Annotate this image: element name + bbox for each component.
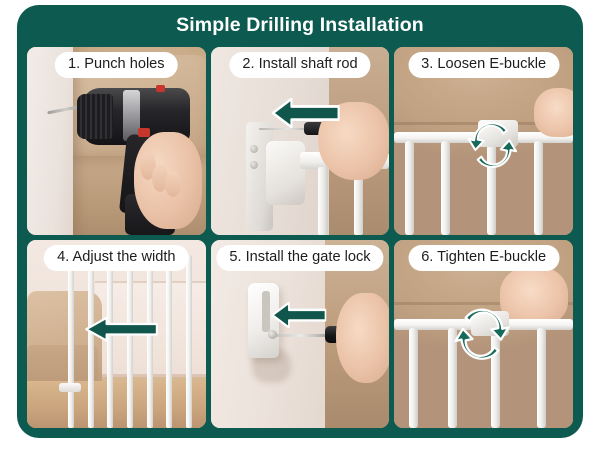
screw <box>268 330 277 339</box>
screwdriver-shaft <box>275 334 332 337</box>
step-card-5[interactable]: 5. Install the gate lock <box>211 240 390 428</box>
step-card-6[interactable]: 6. Tighten E-buckle <box>394 240 573 428</box>
gate-frame-block <box>266 141 305 205</box>
step-1-label: 1. Punch holes <box>55 52 178 78</box>
gate-bar <box>405 141 414 235</box>
hand <box>534 88 573 137</box>
left-arrow-icon <box>84 317 159 341</box>
step-3-label: 3. Loosen E-buckle <box>408 52 559 78</box>
gate-bar <box>107 255 113 428</box>
gate-bar <box>88 255 94 428</box>
gate-bar <box>166 255 172 428</box>
drill-indicator <box>156 85 165 93</box>
gate-bar <box>318 167 328 235</box>
step-4-label: 4. Adjust the width <box>44 245 188 271</box>
gate-bar <box>487 145 496 235</box>
gate-bar <box>68 255 74 428</box>
page-title: Simple Drilling Installation <box>17 14 583 37</box>
steps-grid: 1. Punch holes <box>27 47 573 428</box>
gate-bar <box>448 328 457 428</box>
screw <box>250 161 258 169</box>
gate-bar <box>534 141 543 235</box>
hand <box>500 266 568 326</box>
step-2-label: 2. Install shaft rod <box>229 52 370 78</box>
screw <box>250 145 258 153</box>
installation-infographic: Simple Drilling Installation <box>0 0 600 450</box>
finger <box>165 171 181 197</box>
step-card-1[interactable]: 1. Punch holes <box>27 47 206 235</box>
step-card-4[interactable]: 4. Adjust the width <box>27 240 206 428</box>
hand <box>336 293 390 383</box>
gate-bar <box>441 141 450 235</box>
screw-group <box>250 145 268 186</box>
drill-trigger <box>138 128 151 137</box>
gate-bar <box>127 255 133 428</box>
step-card-2[interactable]: 2. Install shaft rod <box>211 47 390 235</box>
gate-lock-slot <box>262 291 269 332</box>
gate-bar <box>409 328 418 428</box>
green-panel: Simple Drilling Installation <box>17 5 583 438</box>
gate-bar <box>491 328 500 428</box>
drill-chuck <box>77 94 113 139</box>
gate-foot <box>59 383 80 392</box>
gate-bar <box>186 255 192 428</box>
gate-bar <box>147 255 153 428</box>
step-card-3[interactable]: 3. Loosen E-buckle <box>394 47 573 235</box>
left-arrow-icon <box>270 302 327 328</box>
gate-bar <box>537 328 546 428</box>
left-arrow-icon <box>270 98 341 128</box>
e-buckle <box>478 120 517 146</box>
floor <box>27 381 206 428</box>
step-5-label: 5. Install the gate lock <box>216 245 383 271</box>
step-6-label: 6. Tighten E-buckle <box>408 245 559 271</box>
e-buckle <box>471 311 509 335</box>
